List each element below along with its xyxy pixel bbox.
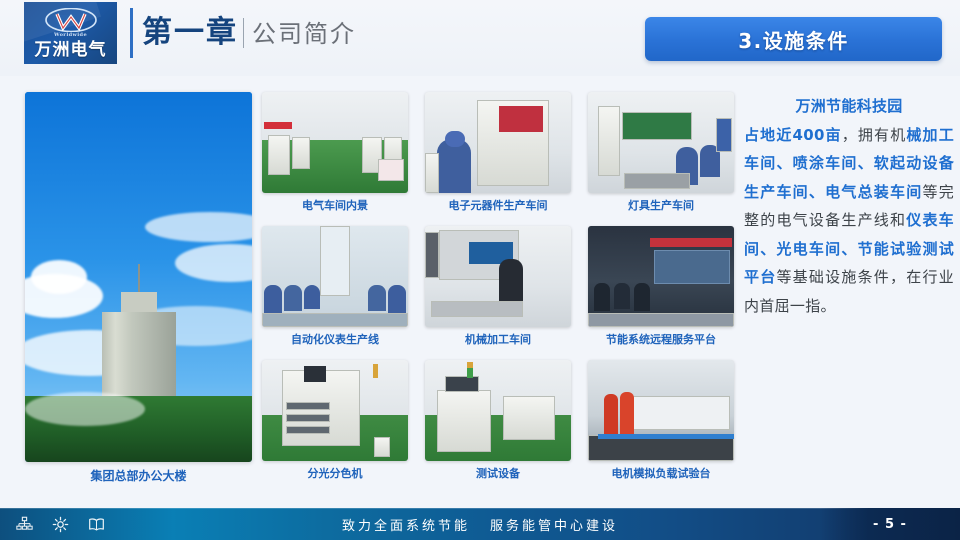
description-segment: 占地近400亩 [744, 126, 842, 144]
grid-photo-caption: 自动化仪表生产线 [262, 333, 408, 347]
grid-photo [588, 360, 734, 461]
grid-photo [262, 226, 408, 327]
grid-cell: 电机模拟负载试验台 [588, 360, 734, 481]
section-title-label: 3.设施条件 [738, 25, 849, 54]
grid-photo [262, 92, 408, 193]
w-shield-icon [45, 8, 97, 32]
chapter-title: 第一章 [142, 14, 238, 52]
description-segment: 等基础设施条件，在行业内首屈一指。 [744, 268, 954, 315]
facility-photo-grid: 电气车间内景 电子元器件生产车间 灯具生产车间 [262, 92, 734, 492]
grid-cell: 自动化仪表生产线 [262, 226, 408, 347]
logo-wordmark-en: Worldwide [24, 32, 117, 38]
description-text: 万洲节能科技园 占地近400亩，拥有机械加工车间、喷涂车间、软起动设备生产车间、… [744, 92, 954, 492]
grid-photo [588, 92, 734, 193]
section-title-badge: 3.设施条件 [645, 17, 942, 61]
footer-slogan-right: 服务能管中心建设 [490, 515, 618, 534]
grid-photo-caption: 机械加工车间 [425, 333, 571, 347]
company-logo: Worldwide 万洲电气 [24, 2, 117, 64]
slide-footer: 致力全面系统节能 服务能管中心建设 - 5 - [0, 508, 960, 540]
grid-cell: 机械加工车间 [425, 226, 571, 347]
section-title-badge-wrap: 3.设施条件 [645, 17, 942, 61]
grid-photo-caption: 电子元器件生产车间 [425, 199, 571, 213]
grid-photo-caption: 分光分色机 [262, 467, 408, 481]
grid-cell: 节能系统远程服务平台 [588, 226, 734, 347]
grid-photo [425, 360, 571, 461]
footer-slogan: 致力全面系统节能 服务能管中心建设 [0, 508, 960, 540]
page-number: - 5 - [873, 517, 907, 532]
description-lead: 万洲节能科技园 [795, 97, 902, 115]
grid-photo-caption: 灯具生产车间 [588, 199, 734, 213]
footer-slogan-left: 致力全面系统节能 [342, 515, 470, 534]
grid-photo [425, 92, 571, 193]
grid-photo [262, 360, 408, 461]
grid-cell: 电子元器件生产车间 [425, 92, 571, 213]
description-segment: ，拥有机 [842, 126, 907, 144]
grid-cell: 分光分色机 [262, 360, 408, 481]
grid-photo-caption: 测试设备 [425, 467, 571, 481]
feature-photo-scene [25, 92, 252, 462]
grid-cell: 电气车间内景 [262, 92, 408, 213]
logo-wordmark-cn: 万洲电气 [24, 40, 117, 60]
header-accent-bar [130, 8, 133, 58]
grid-cell: 测试设备 [425, 360, 571, 481]
feature-photo-caption: 集团总部办公大楼 [25, 467, 252, 484]
slide-header: Worldwide 万洲电气 第一章 公司简介 3.设施条件 [0, 0, 960, 76]
feature-photo [25, 92, 252, 462]
grid-photo [588, 226, 734, 327]
grid-photo [425, 226, 571, 327]
page-number-block: - 5 - [820, 508, 960, 540]
chapter-subtitle: 公司简介 [252, 18, 356, 50]
grid-photo-caption: 电机模拟负载试验台 [588, 467, 734, 481]
chapter-separator [243, 18, 244, 48]
grid-photo-caption: 节能系统远程服务平台 [588, 333, 734, 347]
grid-photo-caption: 电气车间内景 [262, 199, 408, 213]
grid-cell: 灯具生产车间 [588, 92, 734, 213]
